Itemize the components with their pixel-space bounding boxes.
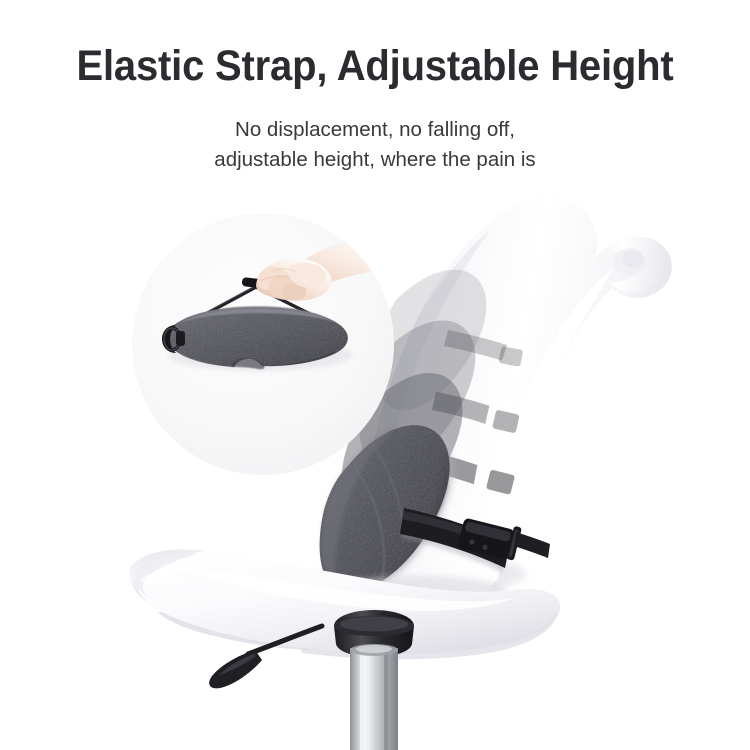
backrest-shell xyxy=(352,196,672,622)
subtitle-line-2: adjustable height, where the pain is xyxy=(0,145,750,175)
subtitle: No displacement, no falling off, adjusta… xyxy=(0,115,750,175)
strap-band xyxy=(400,508,510,568)
inset-scene-svg xyxy=(132,213,394,475)
subtitle-line-1: No displacement, no falling off, xyxy=(0,115,750,145)
product-feature-poster: Elastic Strap, Adjustable Height No disp… xyxy=(0,0,750,750)
cylinder-collar xyxy=(334,610,414,657)
height-adjust-lever[interactable] xyxy=(209,626,322,688)
product-in-hand-inset xyxy=(132,213,394,475)
elastic-strap-mounted xyxy=(400,508,550,572)
hand-holding-strap xyxy=(250,223,394,313)
chair-backrest xyxy=(334,196,672,622)
seat-front-tip xyxy=(129,550,204,606)
lever-paddle[interactable] xyxy=(209,650,262,688)
chair-seat xyxy=(129,550,560,660)
strap-buckle xyxy=(457,514,522,562)
gas-cylinder xyxy=(334,610,414,750)
strap-ghost-positions xyxy=(420,330,528,498)
seat-pan xyxy=(130,551,560,655)
page-title: Elastic Strap, Adjustable Height xyxy=(26,41,724,91)
backrest-top-hook xyxy=(592,237,664,292)
cylinder-tube xyxy=(350,648,398,750)
